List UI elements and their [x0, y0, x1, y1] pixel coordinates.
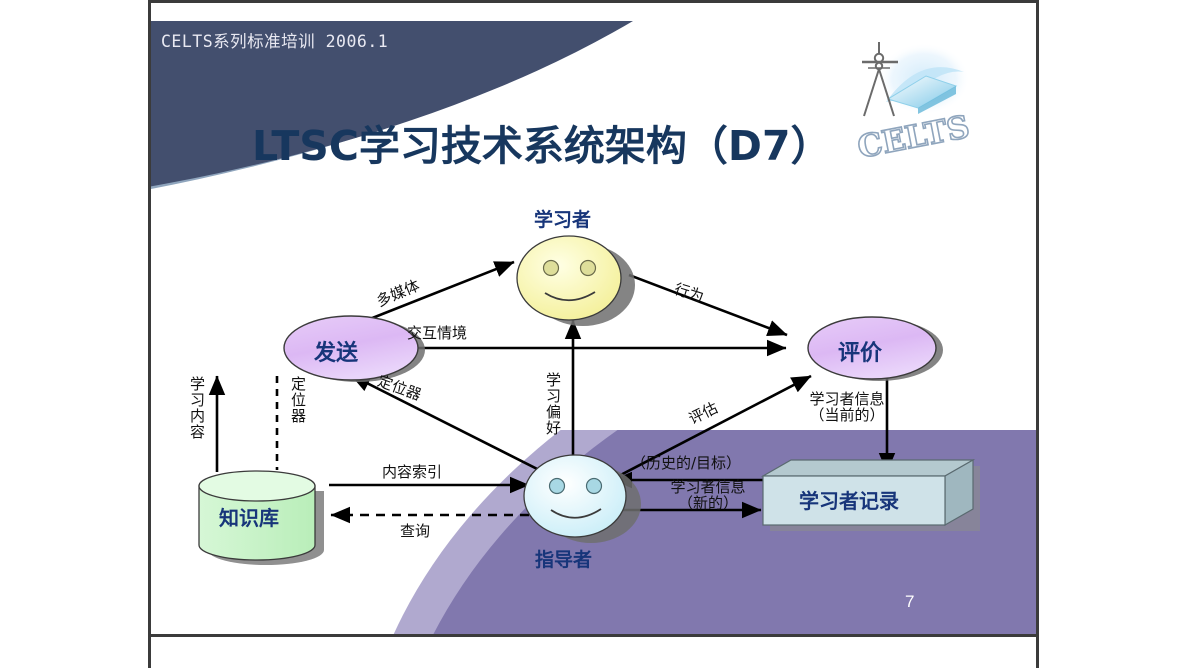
edge-label-history-goal: （历史的/目标）: [631, 452, 741, 473]
frame-border-left: [148, 0, 151, 668]
edge-label-learning-content: 学习内容: [187, 376, 208, 440]
page-title: LTSC学习技术系统架构（D7）: [252, 112, 831, 172]
header-course-title: CELTS系列标准培训 2006.1: [161, 28, 388, 52]
edge-label-content-index: 内容索引: [382, 461, 442, 482]
edge-label-learner-info-current: 学习者信息 （当前的）: [777, 392, 917, 424]
architecture-diagram: 发送 评价 学习者 知识库 指导者 学习者记录 多媒体 行为 交互情境 学习偏好…: [151, 180, 1036, 600]
slide-canvas: CELTS系列标准培训 2006.1 LTSC学习技术系统架构（D7）: [0, 0, 1187, 668]
edge-label-learner-info-current-line2: （当前的）: [777, 408, 917, 424]
edge-label-interaction-context: 交互情境: [407, 322, 467, 343]
frame-border-right: [1036, 0, 1039, 668]
edge-behavior: [629, 275, 787, 335]
node-label-learner-record: 学习者记录: [799, 485, 899, 514]
celts-logo: CELTS: [848, 24, 988, 174]
edge-label-locator-dashed: 定位器: [288, 376, 309, 424]
coach-eye-left: [550, 479, 565, 494]
node-label-learner: 学习者: [534, 205, 591, 232]
node-coach: [524, 455, 641, 543]
edge-label-learner-info-new: 学习者信息 （新的）: [643, 480, 773, 512]
node-label-evaluation: 评价: [838, 335, 882, 367]
node-label-delivery: 发送: [314, 335, 358, 367]
header-top-white-strip: [151, 3, 1036, 21]
frame-border-bottom: [148, 634, 1039, 637]
page-number: 7: [905, 592, 914, 612]
node-label-coach: 指导者: [535, 545, 592, 572]
edge-label-query: 查询: [400, 520, 430, 541]
edge-label-learning-preference: 学习偏好: [543, 372, 564, 436]
node-learner: [517, 236, 635, 326]
edge-label-learner-info-new-line2: （新的）: [643, 496, 773, 512]
frame-border-top: [148, 0, 1039, 3]
learner-eye-left: [544, 261, 559, 276]
logo-wordmark: CELTS: [855, 109, 973, 166]
learner-eye-right: [581, 261, 596, 276]
coach-eye-right: [587, 479, 602, 494]
node-label-knowledge-base: 知识库: [219, 502, 279, 531]
